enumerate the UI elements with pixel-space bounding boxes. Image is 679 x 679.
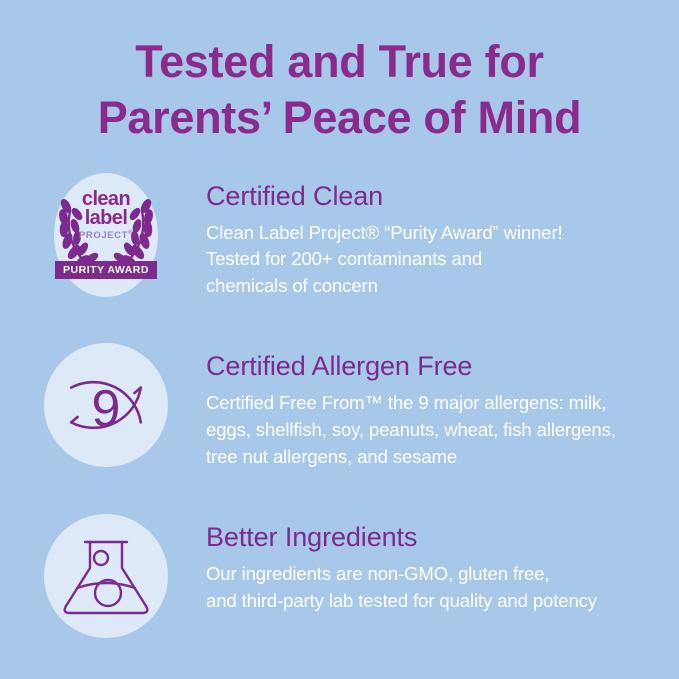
feature-body-line: and third-party lab tested for quality a…: [206, 588, 661, 615]
seal-word-project: PROJECT®: [44, 230, 168, 241]
feature-list: clean label PROJECT® PURITY AWARD Certif…: [0, 173, 679, 639]
promo-poster: Tested and True for Parents’ Peace of Mi…: [0, 0, 679, 679]
registered-mark-icon: ®: [128, 230, 133, 236]
seal-word-label: label: [44, 209, 168, 229]
flask-glyph-icon: [44, 514, 168, 638]
feature-text-certified-allergen-free: Certified Allergen Free Certified Free F…: [168, 343, 661, 470]
nine-in-circle-icon: 9: [44, 343, 168, 467]
feature-title: Better Ingredients: [206, 522, 661, 553]
clean-label-project-seal-icon: clean label PROJECT® PURITY AWARD: [44, 173, 168, 297]
page-title: Tested and True for Parents’ Peace of Mi…: [0, 0, 679, 147]
feature-body-line: eggs, shellfish, soy, peanuts, wheat, fi…: [206, 417, 661, 444]
feature-title: Certified Clean: [206, 181, 661, 212]
feature-body-line: chemicals of concern: [206, 273, 661, 300]
feature-body: Clean Label Project® “Purity Award” winn…: [206, 220, 661, 300]
erlenmeyer-flask-icon: [44, 514, 168, 638]
feature-item-certified-allergen-free: 9 Certified Allergen Free Certified Free…: [44, 343, 661, 470]
feature-title: Certified Allergen Free: [206, 351, 661, 382]
feature-text-better-ingredients: Better Ingredients Our ingredients are n…: [168, 514, 661, 614]
feature-body: Certified Free From™ the 9 major allerge…: [206, 390, 661, 470]
nine-numeral: 9: [92, 380, 121, 438]
feature-item-better-ingredients: Better Ingredients Our ingredients are n…: [44, 514, 661, 638]
feature-text-certified-clean: Certified Clean Clean Label Project® “Pu…: [168, 173, 661, 300]
feature-body-line: Our ingredients are non-GMO, gluten free…: [206, 561, 661, 588]
feature-body-line: Certified Free From™ the 9 major allerge…: [206, 390, 661, 417]
feature-body-line: tree nut allergens, and sesame: [206, 444, 661, 471]
feature-body: Our ingredients are non-GMO, gluten free…: [206, 561, 661, 614]
feature-body-line: Tested for 200+ contaminants and: [206, 246, 661, 273]
feature-body-line: Clean Label Project® “Purity Award” winn…: [206, 220, 661, 247]
headline-line-2: Parents’ Peace of Mind: [0, 90, 679, 146]
notched-ring-icon: 9: [44, 343, 168, 467]
headline-line-1: Tested and True for: [0, 34, 679, 90]
seal-wordmark: clean label: [44, 190, 168, 229]
seal-purity-award-banner: PURITY AWARD: [55, 261, 157, 279]
feature-item-certified-clean: clean label PROJECT® PURITY AWARD Certif…: [44, 173, 661, 300]
